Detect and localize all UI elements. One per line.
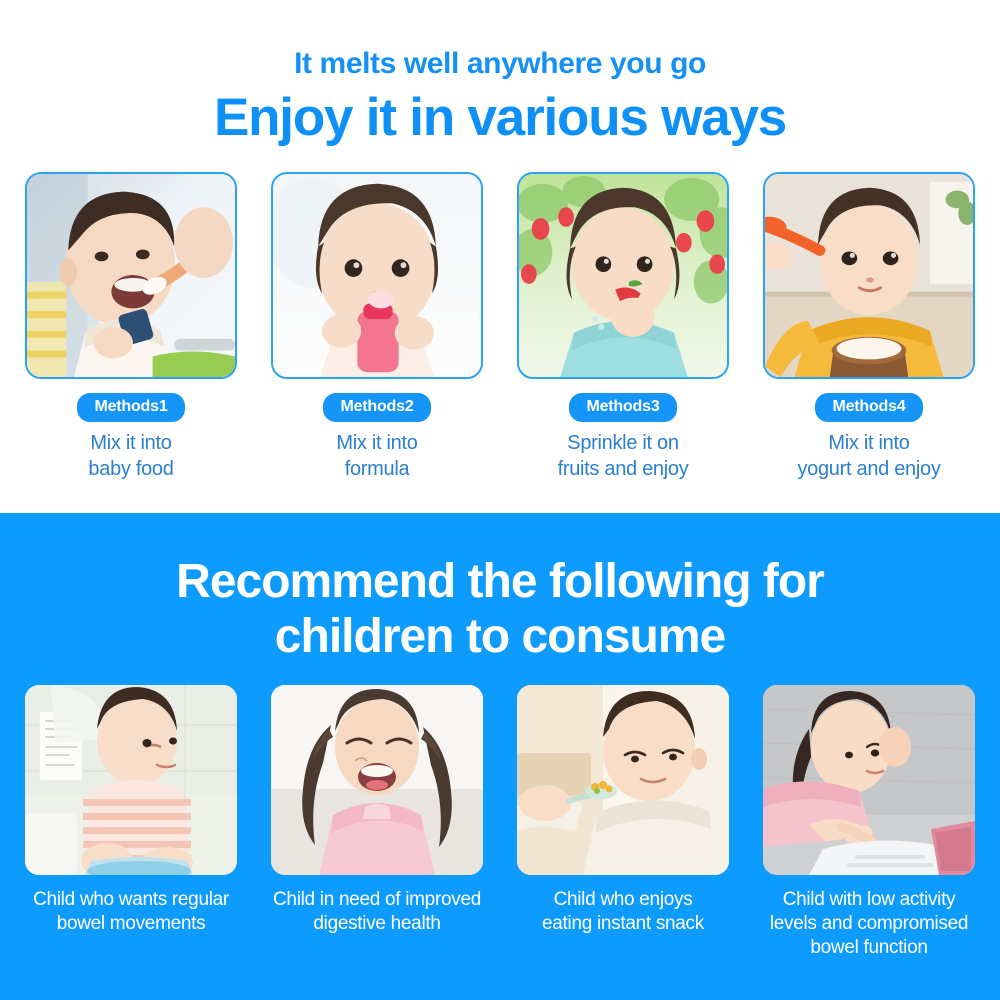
method-caption-3-line2: fruits and enjoy [517, 457, 729, 483]
toddler-on-potty-illustration [25, 685, 237, 875]
method-caption-2-line2: formula [271, 457, 483, 483]
method-badge-2: Methods2 [323, 393, 430, 422]
recommendation-photo-4 [763, 685, 975, 875]
recommendation-card-row: Child who wants regular bowel movements [25, 685, 975, 960]
method-photo-1 [25, 172, 237, 379]
recommendation-card-3: Child who enjoys eating instant snack [517, 685, 729, 960]
method-card-2: Methods2 Mix it into formula [271, 172, 483, 482]
recommendation-caption-4-line1: Child with low activity [763, 888, 975, 912]
recommendation-photo-2 [271, 685, 483, 875]
recommendation-title-line1: Recommend the following for [0, 555, 1000, 610]
recommendation-caption-1-line2: bowel movements [25, 912, 237, 936]
method-photo-2 [271, 172, 483, 379]
eyebrow-text: It melts well anywhere you go [0, 0, 1000, 82]
recommendation-card-1: Child who wants regular bowel movements [25, 685, 237, 960]
recommendation-title: Recommend the following for children to … [0, 513, 1000, 664]
child-eating-strawberry-illustration [519, 174, 727, 377]
method-badge-wrap-4: Methods4 [763, 393, 975, 422]
method-caption-1: Mix it into baby food [25, 431, 237, 482]
recommendation-caption-3-line1: Child who enjoys [517, 888, 729, 912]
method-caption-4: Mix it into yogurt and enjoy [763, 431, 975, 482]
toddler-sippy-cup-illustration [273, 174, 481, 377]
recommendation-caption-1: Child who wants regular bowel movements [25, 888, 237, 936]
recommendation-caption-4-line2: levels and compromised [763, 912, 975, 936]
recommendation-caption-2-line2: digestive health [271, 912, 483, 936]
method-badge-wrap-2: Methods2 [271, 393, 483, 422]
method-caption-4-line2: yogurt and enjoy [763, 457, 975, 483]
recommendation-caption-2: Child in need of improved digestive heal… [271, 888, 483, 936]
infographic-page: It melts well anywhere you go Enjoy it i… [0, 0, 1000, 1000]
method-badge-wrap-1: Methods1 [25, 393, 237, 422]
methods-card-row: Methods1 Mix it into baby food [25, 172, 975, 482]
recommendation-caption-3: Child who enjoys eating instant snack [517, 888, 729, 936]
method-caption-2: Mix it into formula [271, 431, 483, 482]
girl-using-laptop-illustration [763, 685, 975, 875]
child-eating-yogurt-illustration [765, 174, 973, 377]
method-card-1: Methods1 Mix it into baby food [25, 172, 237, 482]
recommendation-photo-1 [25, 685, 237, 875]
method-caption-3-line1: Sprinkle it on [517, 431, 729, 457]
recommendation-title-line2: children to consume [0, 610, 1000, 665]
method-caption-1-line2: baby food [25, 457, 237, 483]
recommendation-caption-2-line1: Child in need of improved [271, 888, 483, 912]
recommendation-caption-1-line1: Child who wants regular [25, 888, 237, 912]
method-caption-1-line1: Mix it into [25, 431, 237, 457]
method-badge-wrap-3: Methods3 [517, 393, 729, 422]
recommendation-caption-3-line2: eating instant snack [517, 912, 729, 936]
method-card-3: Methods3 Sprinkle it on fruits and enjoy [517, 172, 729, 482]
baby-spoon-feeding-illustration [27, 174, 235, 377]
recommendation-section: Recommend the following for children to … [0, 513, 1000, 1000]
method-caption-4-line1: Mix it into [763, 431, 975, 457]
method-photo-3 [517, 172, 729, 379]
method-caption-3: Sprinkle it on fruits and enjoy [517, 431, 729, 482]
method-card-4: Methods4 Mix it into yogurt and enjoy [763, 172, 975, 482]
method-badge-4: Methods4 [815, 393, 922, 422]
recommendation-card-2: Child in need of improved digestive heal… [271, 685, 483, 960]
recommendation-photo-3 [517, 685, 729, 875]
method-photo-4 [763, 172, 975, 379]
recommendation-caption-4-line3: bowel function [763, 936, 975, 960]
method-badge-3: Methods3 [569, 393, 676, 422]
recommendation-caption-4: Child with low activity levels and compr… [763, 888, 975, 960]
methods-section: It melts well anywhere you go Enjoy it i… [0, 0, 1000, 513]
crying-girl-illustration [271, 685, 483, 875]
method-badge-1: Methods1 [77, 393, 184, 422]
page-title: Enjoy it in various ways [0, 88, 1000, 147]
boy-eating-snack-illustration [517, 685, 729, 875]
recommendation-card-4: Child with low activity levels and compr… [763, 685, 975, 960]
method-caption-2-line1: Mix it into [271, 431, 483, 457]
